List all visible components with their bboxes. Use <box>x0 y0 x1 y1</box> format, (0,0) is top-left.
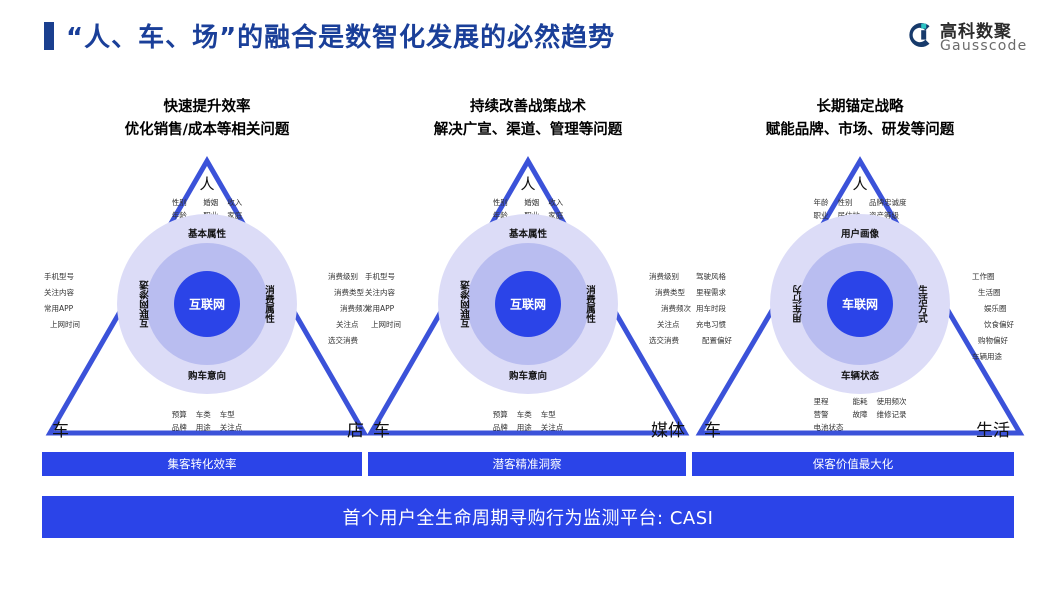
triangle-2-attrs-right: 消费级别 消费类型 消费频次 关注点 选交消费 <box>649 271 691 346</box>
ring-label-bottom: 车辆状态 <box>841 368 879 382</box>
triangle-2: 人 车 媒体 性别 婚姻 收入 年龄 职业 家庭 居住地 预算 车类 车型 <box>363 151 693 441</box>
ring-label-right: 消费属性 <box>582 285 596 323</box>
attr-text: 车辆用途 <box>972 351 1014 362</box>
ring-label-bottom: 购车意向 <box>509 368 547 382</box>
pillar-column-2: 持续改善战策战术 解决广宣、渠道、管理等问题 人 车 媒体 性别 婚姻 收入 年… <box>363 96 693 496</box>
triangle-2-attrs-left: 手机型号 关注内容 常用APP 上网时间 <box>365 271 401 330</box>
result-bar-3: 保客价值最大化 <box>692 452 1014 476</box>
attr-text: 车类 <box>517 409 532 420</box>
ring-label-left: 用车行为 <box>792 285 806 323</box>
attr-text: 预算 <box>172 409 187 420</box>
column-3-heading-line1: 长期锚定战略 <box>817 99 904 115</box>
triangle-3-corner-right-label: 生活 <box>976 416 1010 441</box>
page-title: “人、车、场”的融合是数智化发展的必然趋势 <box>66 17 615 54</box>
slide: “人、车、场”的融合是数智化发展的必然趋势 高科数聚 Gausscode 快速提… <box>0 0 1057 589</box>
attr-text: 电池状态 <box>814 422 844 433</box>
attr-text: 维修记录 <box>877 409 907 420</box>
attr-text: 营警 <box>814 409 844 420</box>
attr-text: 性别 <box>172 197 195 208</box>
platform-banner: 首个用户全生命周期寻购行为监测平台: CASI <box>42 496 1014 538</box>
ring-center-label: 互联网 <box>510 296 546 313</box>
ring-label-bottom: 购车意向 <box>188 368 226 382</box>
attr-text: 购物偏好 <box>972 335 1014 346</box>
attr-text: 用途 <box>196 422 211 433</box>
attr-text: 手机型号 <box>365 271 401 282</box>
ring-center-label: 互联网 <box>189 296 225 313</box>
triangle-1: 人 车 店 性别 婚姻 收入 年龄 职业 家庭 居住地 预算 车类 <box>42 151 372 441</box>
ring-label-left: 互联网渗透 <box>460 280 474 328</box>
attr-text: 使用频次 <box>877 396 907 407</box>
column-1-heading-line1: 快速提升效率 <box>164 99 251 115</box>
triangle-1-attrs-left: 手机型号 关注内容 常用APP 上网时间 <box>44 271 80 330</box>
slide-header: “人、车、场”的融合是数智化发展的必然趋势 高科数聚 Gausscode <box>0 0 1057 68</box>
attr-text: 婚姻 <box>203 197 218 208</box>
result-bar-1: 集客转化效率 <box>42 452 362 476</box>
triangle-1-rings: 互联网 基本属性 购车意向 互联网渗透 消费属性 <box>117 214 297 394</box>
ring-label-top: 基本属性 <box>509 226 547 240</box>
triangle-1-attrs-bottom: 预算 车类 车型 品牌 用途 关注点 <box>172 409 243 433</box>
attr-text: 充电习惯 <box>696 319 732 330</box>
attr-text: 关注内容 <box>365 287 401 298</box>
attr-text: 品牌 <box>172 422 187 433</box>
result-bar-2: 潜客精准洞察 <box>368 452 686 476</box>
attr-text: 收入 <box>548 197 563 208</box>
triangle-1-corner-right-label: 店 <box>347 416 364 441</box>
title-accent-mark <box>44 22 54 50</box>
triangle-3-attrs-left: 驾驶风格 里程需求 用车时段 充电习惯 配置偏好 <box>696 271 732 346</box>
attr-text: 车型 <box>220 409 243 420</box>
attr-text: 关注点 <box>220 422 243 433</box>
attr-text: 娱乐圈 <box>972 303 1014 314</box>
attr-text: 关注内容 <box>44 287 80 298</box>
attr-text: 驾驶风格 <box>696 271 732 282</box>
column-1-heading-line2: 优化销售/成本等相关问题 <box>42 119 372 142</box>
attr-text: 能耗 <box>853 396 868 407</box>
attr-text: 常用APP <box>365 303 401 314</box>
attr-text: 故障 <box>853 409 868 420</box>
column-3-heading: 长期锚定战略 赋能品牌、市场、研发等问题 <box>690 96 1030 142</box>
column-3-heading-line2: 赋能品牌、市场、研发等问题 <box>690 119 1030 142</box>
pillar-column-3: 长期锚定战略 赋能品牌、市场、研发等问题 人 车 生活 年龄 性别 品牌忠诚度 … <box>690 96 1030 496</box>
attr-text: 关注点 <box>541 422 564 433</box>
triangle-1-apex-label: 人 <box>42 173 372 194</box>
ring-label-top: 用户画像 <box>841 226 879 240</box>
attr-text: 上网时间 <box>44 319 80 330</box>
attr-text: 消费级别 <box>649 271 691 282</box>
attr-text: 车型 <box>541 409 564 420</box>
attr-text: 常用APP <box>44 303 80 314</box>
column-1-heading: 快速提升效率 优化销售/成本等相关问题 <box>42 96 372 142</box>
triangle-1-corner-left-label: 车 <box>52 416 69 441</box>
brand-logo: 高科数聚 Gausscode <box>906 17 1036 59</box>
attr-text: 工作圈 <box>972 271 1014 282</box>
attr-text: 配置偏好 <box>696 335 732 346</box>
attr-text: 收入 <box>227 197 242 208</box>
attr-text: 性别 <box>838 197 861 208</box>
attr-text: 里程需求 <box>696 287 732 298</box>
column-2-heading-line1: 持续改善战策战术 <box>470 99 586 115</box>
attr-text: 品牌忠诚度 <box>869 197 907 208</box>
attr-text: 里程 <box>814 396 844 407</box>
triangle-3: 人 车 生活 年龄 性别 品牌忠诚度 职业 居住地 资产等级 里程 能耗 使用频… <box>690 151 1030 441</box>
attr-text: 用途 <box>517 422 532 433</box>
triangle-2-corner-right-label: 媒体 <box>651 416 685 441</box>
column-2-heading-line2: 解决广宣、渠道、管理等问题 <box>363 119 693 142</box>
attr-text: 消费类型 <box>649 287 691 298</box>
ring-label-left: 互联网渗透 <box>139 280 153 328</box>
ring-label-right: 生活方式 <box>914 285 928 323</box>
logo-c-mark <box>906 21 934 49</box>
triangle-3-corner-left-label: 车 <box>704 416 721 441</box>
triangle-3-rings: 车联网 用户画像 车辆状态 用车行为 生活方式 <box>770 214 950 394</box>
ring-label-top: 基本属性 <box>188 226 226 240</box>
triangle-3-apex-label: 人 <box>690 173 1030 194</box>
attr-text: 婚姻 <box>524 197 539 208</box>
triangle-3-attrs-bottom: 里程 能耗 使用频次 营警 故障 维修记录 电池状态 <box>814 396 907 433</box>
triangle-3-attrs-right: 工作圈 生活圈 娱乐圈 饮食偏好 购物偏好 车辆用途 <box>972 271 1014 362</box>
ring-label-right: 消费属性 <box>261 285 275 323</box>
attr-text: 年龄 <box>814 197 829 208</box>
attr-text: 生活圈 <box>972 287 1014 298</box>
attr-text: 消费频次 <box>649 303 691 314</box>
attr-text: 上网时间 <box>365 319 401 330</box>
logo-text-en: Gausscode <box>940 38 1027 54</box>
attr-text: 饮食偏好 <box>972 319 1014 330</box>
attr-text: 品牌 <box>493 422 508 433</box>
pillar-column-1: 快速提升效率 优化销售/成本等相关问题 人 车 店 性别 婚姻 收入 年龄 职业… <box>42 96 372 496</box>
triangle-2-corner-left-label: 车 <box>373 416 390 441</box>
column-2-heading: 持续改善战策战术 解决广宣、渠道、管理等问题 <box>363 96 693 142</box>
attr-text: 手机型号 <box>44 271 80 282</box>
triangle-2-attrs-bottom: 预算 车类 车型 品牌 用途 关注点 <box>493 409 564 433</box>
attr-text: 车类 <box>196 409 211 420</box>
triangle-2-apex-label: 人 <box>363 173 693 194</box>
attr-text: 性别 <box>493 197 516 208</box>
attr-text: 关注点 <box>649 319 691 330</box>
triangle-2-rings: 互联网 基本属性 购车意向 互联网渗透 消费属性 <box>438 214 618 394</box>
ring-center-label: 车联网 <box>842 296 878 313</box>
attr-text: 预算 <box>493 409 508 420</box>
attr-text: 选交消费 <box>649 335 691 346</box>
attr-text: 用车时段 <box>696 303 732 314</box>
